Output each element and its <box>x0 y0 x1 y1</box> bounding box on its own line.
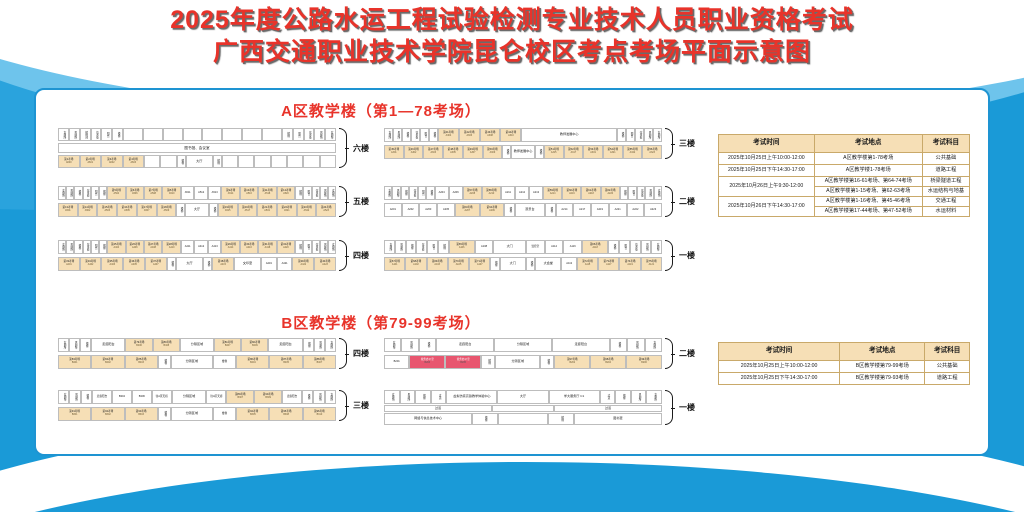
plan-cell-exam-room: 第75考场A121 <box>641 257 662 271</box>
plan-cell-label: 男厕所 <box>322 243 325 251</box>
plan-cell-code: A415 <box>220 264 226 267</box>
plan-cell-exam-room: 第62考场A220 <box>601 186 620 200</box>
plan-cell-label: 阳台 <box>105 132 108 137</box>
plan-cell-room: A211 <box>501 186 515 200</box>
floor-brace <box>339 390 346 421</box>
plan-row: 第45考场A301第46考场A302第47考场A303第48考场A305第49考… <box>384 145 662 159</box>
plan-cell-label: 饮水处 <box>85 189 88 197</box>
plan-cell-label: 文印室 <box>243 262 252 266</box>
exam-subject-cell: 水运结构与地基 <box>922 186 969 196</box>
plan-row: 第83考场B401第84考场B402第85考场B403楼梯分隔区域楼梯第86考场… <box>58 355 336 369</box>
plan-cell-label: 女厕所 <box>329 341 332 349</box>
plan-cell-exam-room: 第6考场A506 <box>126 186 144 200</box>
plan-cell-exam-room: 第22考场A521 <box>277 203 297 217</box>
plan-cell-vertical: 楼梯 <box>74 240 82 254</box>
plan-cell-vertical: 阳台 <box>418 186 426 200</box>
plan-cell-code: B303 <box>138 414 144 417</box>
exam-time-cell: 2025年10月25日上午10:00-12:00 <box>719 152 815 164</box>
plan-cell-exam-room: 第79考场B406 <box>125 338 152 352</box>
table-header-cell: 考试科目 <box>922 135 969 153</box>
plan-cell-label: 楼梯 <box>442 244 445 249</box>
plan-cell-vertical: 楼梯 <box>80 338 91 352</box>
plan-cell-room: A223 <box>644 203 662 217</box>
plan-cell-room: B201 <box>384 355 409 369</box>
plan-cell-label: 楼梯 <box>306 394 309 399</box>
plan-cell-vertical: 楼梯 <box>535 145 544 159</box>
floor-label: 四楼 <box>353 250 369 261</box>
plan-cell-exam-room: 第24考场A523 <box>316 203 336 217</box>
plan-cell-label: 楼梯 <box>508 207 511 212</box>
plan-cell-label: 女厕所 <box>653 393 656 401</box>
plan-cell-exam-room: 第57考场A208 <box>463 186 482 200</box>
plan-cell-room: A222 <box>627 203 645 217</box>
plan-cell-room: 走廊阳台 <box>282 390 302 404</box>
plan-cell-vertical: 阳台 <box>427 240 438 254</box>
table-row: 2025年10月25日下午14:30-17:00A区教学楼1-78考场道路工程 <box>719 164 970 176</box>
plan-cell-exam-room: 第1考场A600 <box>58 155 80 168</box>
plan-cell-exam-room: 第44考场A310 <box>500 128 521 142</box>
plan-cell-label: 大厅 <box>196 160 202 164</box>
plan-cell-room: 楼梯 <box>213 407 237 421</box>
exam-schedule-table-a: 考试时间考试地点考试科目2025年10月25日上午10:00-12:00A区教学… <box>718 134 970 217</box>
main-title: 2025年度公路水运工程试验检测专业技术人员职业资格考试 <box>0 6 1024 34</box>
plan-cell-label: A206 <box>453 192 459 195</box>
floor-label-group: 一楼 <box>665 390 695 425</box>
plan-cell-vertical: 女厕所 <box>325 338 336 352</box>
plan-cell-wide: 教师发展中心 <box>521 128 617 142</box>
plan-cell-exam-room: 第83考场B401 <box>58 355 91 369</box>
plan-cell-label: 女厕所 <box>655 243 658 251</box>
plan-cell-code: B407 <box>317 362 323 365</box>
plan-cell-vertical: 楼梯 <box>209 203 218 217</box>
plan-cell-code: A315 <box>551 152 557 155</box>
plan-cell-room: 往A区天桥 <box>152 390 172 404</box>
plan-cell-label: 女厕所 <box>62 131 65 139</box>
plan-cell-empty <box>222 155 238 168</box>
plan-cell-code: A218 <box>588 193 594 196</box>
plan-cell-vertical: 男厕所 <box>401 338 418 352</box>
floor-block: 女厕所男厕所楼梯走廊阳台分隔区域走廊阳台楼梯男厕所女厕所B201候务办公室B20… <box>384 338 662 369</box>
plan-cell-label: 男厕所 <box>395 189 398 197</box>
plan-cell-code: A422 <box>301 264 307 267</box>
plan-row: 过道过道 <box>384 405 662 412</box>
plan-cell-label: 楼梯 <box>206 261 209 266</box>
plan-cell-vertical: 女厕所 <box>646 390 662 404</box>
plan-cell-facility: 学大服务厅 C1 <box>549 390 600 404</box>
exam-place-cell: A区教学楼第16-61考场、第64-74考场 <box>814 176 922 186</box>
plan-cell-code: A406 <box>132 247 138 250</box>
plan-cell-code: A306 <box>466 135 472 138</box>
plan-cell-exam-room: 第32考场A420 <box>277 240 295 254</box>
plan-cell-room: A205 <box>437 203 455 217</box>
plan-cell-label: 阳台 <box>631 190 634 195</box>
plan-row: 女厕所男厕所楼梯饮水处阳台楼梯第65考场A106A108大门监控室A114A11… <box>384 240 662 254</box>
plan-cell-label: 学大服务厅 C1 <box>564 395 584 399</box>
plan-cell-exam-room: 第8考场A510 <box>162 186 180 200</box>
plan-cell-vertical: 楼梯 <box>99 240 107 254</box>
plan-cell-exam-room: 第53考场A319 <box>583 145 603 159</box>
plan-cell-vertical: 楼梯 <box>176 203 185 217</box>
plan-cell-vertical: 阳台 <box>303 186 311 200</box>
plan-cell-label: A108 <box>481 246 487 249</box>
plan-cell-vertical: 女厕所 <box>384 186 392 200</box>
plan-cell-label: 女厕所 <box>387 189 390 197</box>
plan-cell-label: A413 <box>212 246 218 249</box>
plan-cell-vertical: 男厕所 <box>320 240 328 254</box>
plan-cell-vertical: 楼梯 <box>112 128 123 141</box>
plan-cell-empty <box>160 155 176 168</box>
plan-cell-label: 饮水处 <box>85 243 88 251</box>
plan-cell-label: 大门 <box>507 245 513 249</box>
plan-row: 女厕所男厕所楼梯饮水处阳台楼梯第25考场A404第26考场A406第27考场A4… <box>58 240 336 254</box>
plan-cell-label: 楼梯间 <box>84 131 87 139</box>
plan-cell-vertical: 楼梯 <box>472 413 497 425</box>
plan-cell-room: A116 <box>563 240 582 254</box>
plan-cell-exam-room: 第43考场A308 <box>480 128 501 142</box>
plan-cell-exam-room: 第67考场A101 <box>384 257 405 271</box>
plan-cell-code: B408 <box>164 345 170 348</box>
a-zone-title: A区教学楼（第1—78考场） <box>216 100 546 121</box>
plan-cell-label: 饮水处 <box>307 131 310 139</box>
plan-cell-vertical: 过道 <box>600 390 616 404</box>
plan-cell-label: 男厕所 <box>73 131 76 139</box>
plan-cell-exam-room: 第72考场A115 <box>577 257 598 271</box>
plan-cell-exam-room: 第99考场B206 <box>626 355 662 369</box>
plan-cell-label: 饮水处 <box>639 189 642 197</box>
plan-cell-vertical: 女厕所 <box>325 390 336 404</box>
plan-cell-code: A401 <box>66 264 72 267</box>
plan-cell-vertical: 男厕所 <box>644 128 653 142</box>
plan-row: 女厕所男厕所楼梯走廊阳台B304B306往A区天桥分隔区域往A区天桥第89考场B… <box>58 390 336 404</box>
plan-cell-code: A322 <box>630 152 636 155</box>
plan-cell-label: 楼梯 <box>84 342 87 347</box>
plan-cell-code: A516 <box>246 193 252 196</box>
plan-row: 女厕所男厕所楼梯过道虚拟仿真高铁教学体验中心大厅学大服务厅 C1过道楼梯男厕所女… <box>384 390 662 404</box>
plan-cell-code: A403 <box>110 264 116 267</box>
plan-cell-facility: 文印室 <box>234 257 261 271</box>
plan-cell-code: A407 <box>153 264 159 267</box>
plan-cell-exam-room: 第60考场A216 <box>562 186 581 200</box>
plan-cell-exam-room: 第45考场A301 <box>384 145 404 159</box>
floor-label-group: 四楼 <box>339 240 369 271</box>
plan-cell-exam-room: 第86考场B404 <box>236 355 269 369</box>
plan-cell-label: A511 <box>185 192 191 195</box>
plan-cell-label: A219 <box>597 209 603 212</box>
plan-cell-exam-room: 第15考场A503 <box>97 203 117 217</box>
plan-cell-vertical: 楼梯 <box>402 128 411 142</box>
plan-cell-vertical: 女厕所 <box>384 128 393 142</box>
plan-cell-code: A510 <box>169 193 175 196</box>
plan-cell-code: B401 <box>72 362 78 365</box>
floor-brace <box>339 186 346 217</box>
plan-cell-vertical: 男厕所 <box>392 186 400 200</box>
plan-cell-code: A404 <box>114 247 120 250</box>
plan-cell-label: 分隔区域 <box>186 360 198 364</box>
plan-cell-exam-room: 第13考场A501 <box>58 203 78 217</box>
plan-cell-exam-room: 第48考场A305 <box>443 145 463 159</box>
plan-cell-exam-room: 第17考场A507 <box>137 203 157 217</box>
plan-cell-facility: 大门 <box>493 240 526 254</box>
plan-cell-vertical: 楼梯 <box>74 186 82 200</box>
plan-row: B201候务办公室B203候务办公室B205楼梯分隔区域楼梯第97考场B202第… <box>384 355 662 369</box>
plan-cell-facility: 过道 <box>384 405 492 412</box>
plan-cell-vertical: 女厕所 <box>58 390 69 404</box>
plan-cell-code: A416 <box>246 247 252 250</box>
plan-cell-label: 楼梯 <box>298 190 301 195</box>
plan-cell-vertical: 楼梯 <box>502 145 511 159</box>
plan-cell-label: A412 <box>198 246 204 249</box>
plan-cell-label: 楼梯 <box>409 244 412 249</box>
plan-cell-label: A202 <box>408 209 414 212</box>
plan-cell-exam-room: 第59考场A214 <box>543 186 562 200</box>
plan-cell-code: B301 <box>72 414 78 417</box>
plan-cell-label: A221 <box>615 209 621 212</box>
floor-label: 二楼 <box>679 348 695 359</box>
plan-cell-code: A502 <box>85 210 91 213</box>
plan-cell-label: 分隔区域 <box>512 360 524 364</box>
plan-cell-vertical: 楼梯 <box>401 186 409 200</box>
plan-cell-exam-room: 第92考场B302 <box>91 407 124 421</box>
plan-cell-vertical: 楼梯 <box>548 413 573 425</box>
plan-cell-exam-room: 第91考场B301 <box>58 407 91 421</box>
plan-cell-code: A305 <box>450 152 456 155</box>
plan-cell-vertical: 楼梯 <box>302 390 313 404</box>
plan-cell-label: 男厕所 <box>406 393 409 401</box>
plan-cell-exam-room: 第63考场A207 <box>455 203 480 217</box>
plan-cell-vertical: 楼梯 <box>303 338 314 352</box>
plan-cell-facility: 虚拟仿真高铁教学体验中心 <box>446 390 497 404</box>
plan-cell-code: A503 <box>104 210 110 213</box>
plan-cell-exam-room: 第88考场B407 <box>303 355 336 369</box>
plan-cell-exam-room: 第33考场A401 <box>58 257 80 271</box>
plan-cell-label: 阳台 <box>297 132 300 137</box>
plan-cell-label: 走廊阳台 <box>459 343 471 347</box>
plan-cell-label: 男厕所 <box>648 189 651 197</box>
table-header-row: 考试时间考试地点考试科目 <box>719 135 970 153</box>
plan-cell-vertical: 女厕所 <box>384 240 395 254</box>
plan-cell-exam-room: 第34考场A402 <box>80 257 102 271</box>
plan-row: 第1考场A600第2考场A601第3考场A602第4考场A603楼梯大厅楼梯 <box>58 155 336 168</box>
plan-cell-label: 男厕所 <box>409 341 412 349</box>
plan-cell-room: A212 <box>515 186 529 200</box>
plan-cell-code: A323 <box>649 152 655 155</box>
plan-cell-label: 饮水处 <box>95 131 98 139</box>
plan-cell-label: 楼梯 <box>483 416 486 421</box>
floor-label: 一楼 <box>679 250 695 261</box>
plan-cell-label: 楼梯 <box>538 149 541 154</box>
plan-cell-label: 大厅 <box>520 395 526 399</box>
plan-row: 第33考场A401第34考场A402第35考场A403第36考场A405第37考… <box>58 257 336 271</box>
plan-cell-exam-room: 第70考场A105 <box>448 257 469 271</box>
plan-cell-room: A419 <box>261 257 277 271</box>
plan-cell-label: 楼梯 <box>405 132 408 137</box>
plan-cell-exam-room: 第2考场A601 <box>80 155 102 168</box>
floor-label-group: 二楼 <box>665 186 695 217</box>
plan-cell-code: B309 <box>265 397 271 400</box>
plan-cell-room: A511 <box>181 186 195 200</box>
plan-cell-code: B403 <box>138 362 144 365</box>
plan-cell-exam-room: 第51考场A315 <box>544 145 564 159</box>
plan-cell-vertical: 饮水处 <box>416 240 427 254</box>
plan-cell-vertical: 女厕所 <box>58 338 69 352</box>
plan-cell-code: A508 <box>150 193 156 196</box>
plan-cell-exam-room: 第47考场A303 <box>423 145 443 159</box>
plan-cell-code: A118 <box>592 247 597 250</box>
plan-cell-label: 楼梯 <box>429 190 432 195</box>
plan-cell-label: 男厕所 <box>634 341 637 349</box>
plan-cell-label: 走廊阳台 <box>102 343 114 347</box>
floor-label: 二楼 <box>679 196 695 207</box>
plan-cell-vertical: 男厕所 <box>66 240 74 254</box>
exam-schedule-table-b: 考试时间考试地点考试科目2025年10月25日上午10:00-12:00B区教学… <box>718 342 970 385</box>
plan-cell-exam-room: 第89考场B307 <box>226 390 254 404</box>
plan-cell-label: 楼梯 <box>77 190 80 195</box>
plan-cell-code: A317 <box>571 152 577 155</box>
floor-brace <box>339 338 346 369</box>
plan-cell-facility: 走廊阳台 <box>552 338 610 352</box>
exam-subject-cell: 道路工程 <box>922 164 969 176</box>
plan-cell-vertical: 饮水处 <box>635 128 644 142</box>
plan-cell-exam-room: 第73考场A117 <box>598 257 619 271</box>
plan-cell-room: A513 <box>208 186 222 200</box>
plan-cell-label: 楼梯 <box>560 416 563 421</box>
plan-row: A201A202A203A205第63考场A207第64考场A209楼梯观景台楼… <box>384 203 662 217</box>
plan-cell-code: A220 <box>607 193 613 196</box>
exam-time-cell: 2025年10月26日下午14:30-17:00 <box>719 196 815 216</box>
sub-title: 广西交通职业技术学院昆仑校区考点考场平面示意图 <box>0 38 1024 66</box>
plan-cell-label: 女厕所 <box>329 393 332 401</box>
plan-cell-label: 男厕所 <box>74 393 77 401</box>
plan-cell-label: 女厕所 <box>391 341 394 349</box>
plan-cell-vertical: 饮水处 <box>83 240 91 254</box>
plan-cell-room: 往A区天桥 <box>206 390 226 404</box>
plan-cell-code: A115 <box>585 264 590 267</box>
plan-cell-vertical: 楼梯 <box>617 128 626 142</box>
plan-cell-code: A119 <box>627 264 632 267</box>
plan-cell-label: 楼梯 <box>622 394 625 399</box>
plan-cell-code: A214 <box>550 193 556 196</box>
plan-cell-exam-room: 第39考场A422 <box>292 257 314 271</box>
plan-cell-facility: 教师发展中心 <box>511 145 535 159</box>
plan-cell-label: 楼梯 <box>298 244 301 249</box>
plan-cell-label: A512 <box>198 192 204 195</box>
plan-cell-code: B305 <box>250 414 256 417</box>
plan-cell-code: A302 <box>411 152 417 155</box>
plan-cell-code: A505 <box>124 210 130 213</box>
plan-cell-exam-room: 第94考场B305 <box>236 407 269 421</box>
plan-cell-code: A210 <box>489 193 495 196</box>
plan-cell-code: A504 <box>114 193 120 196</box>
plan-cell-exam-room: 第25考场A404 <box>107 240 125 254</box>
plan-cell-exam-room: 第82考场B409 <box>241 338 268 352</box>
plan-cell-exam-room: 第50考场A309 <box>483 145 503 159</box>
plan-cell-label: A217 <box>579 209 585 212</box>
table-row: 2025年10月26日下午14:30-17:00A区教学楼第1-16考场、第45… <box>719 196 970 206</box>
plan-cell-code: B404 <box>250 362 256 365</box>
exam-place-cell: A区教学楼第1-78考场 <box>814 152 922 164</box>
plan-cell-empty <box>163 128 183 141</box>
plan-cell-code: A319 <box>590 152 596 155</box>
plan-cell-vertical: 男厕所 <box>313 390 324 404</box>
plan-cell-vertical: 男厕所 <box>645 186 653 200</box>
plan-cell-code: A523 <box>323 210 329 213</box>
plan-cell-exam-room: 第9考场A514 <box>221 186 239 200</box>
plan-cell-room: 走廊阳台 <box>92 390 112 404</box>
b-zone-title: B区教学楼（第79-99考场） <box>216 312 546 333</box>
plan-cell-vertical: 男厕所 <box>69 338 80 352</box>
plan-cell-code: A518 <box>265 193 271 196</box>
plan-cell-code: A414 <box>228 247 234 250</box>
plan-cell-label: 楼梯 <box>222 413 227 416</box>
plan-cell-label: 饮水处 <box>314 243 317 251</box>
plan-cell-vertical: 楼梯 <box>415 390 431 404</box>
plan-cell-vertical: 楼梯 <box>490 257 499 271</box>
plan-row: 第13考场A501第14考场A502第15考场A503第16考场A505第17考… <box>58 203 336 217</box>
plan-cell-label: 女厕所 <box>656 189 659 197</box>
plan-cell-exam-room: 第69考场A103 <box>427 257 448 271</box>
exam-time-cell: 2025年10月26日上午9:30-12:00 <box>719 176 815 196</box>
plan-cell-vertical: 楼梯 <box>615 390 631 404</box>
plan-cell-facility: 大门 <box>500 257 526 271</box>
plan-cell-vertical: 楼梯 <box>282 128 293 141</box>
plan-row: 图书馆、会议室 <box>58 143 336 153</box>
plan-cell-room: A114 <box>545 240 564 254</box>
plan-cell-vertical: 过道 <box>431 390 447 404</box>
plan-cell-label: 网络与信息技术中心 <box>414 417 442 421</box>
plan-cell-label: A113 <box>566 263 572 266</box>
plan-cell-room: A512 <box>194 186 208 200</box>
plan-cell-code: A514 <box>228 193 234 196</box>
floor-label: 五楼 <box>353 196 369 207</box>
plan-cell-vertical: 阳台 <box>101 128 112 141</box>
plan-cell-wide: 图书馆、会议室 <box>58 143 336 153</box>
plan-cell-vertical: 阳台 <box>628 186 636 200</box>
plan-cell-code: A402 <box>88 264 94 267</box>
plan-cell-code: A307 <box>470 152 476 155</box>
plan-cell-vertical: 男厕所 <box>314 338 325 352</box>
plan-row: 女厕所男厕所楼梯走廊阳台分隔区域走廊阳台楼梯男厕所女厕所 <box>384 338 662 352</box>
plan-cell-vertical: 楼梯 <box>295 240 303 254</box>
plan-cell-code: A420 <box>283 247 289 250</box>
plan-cell-code: A310 <box>508 135 514 138</box>
plan-cell-label: 楼梯 <box>432 132 435 137</box>
plan-cell-code: A410 <box>169 247 175 250</box>
plan-cell-room: A214 <box>556 203 574 217</box>
plan-cell-office: 候务办公室B203 <box>409 355 445 369</box>
plan-cell-code: A321 <box>610 152 616 155</box>
plan-cell-room: A113 <box>561 257 576 271</box>
plan-cell-exam-room: 第37考场A407 <box>145 257 167 271</box>
plan-cell-code: B302 <box>105 414 111 417</box>
table-header-cell: 考试时间 <box>719 343 840 361</box>
plan-cell-vertical: 楼梯 <box>620 186 628 200</box>
plan-cell-label: 楼梯 <box>426 342 429 347</box>
table-row: 2025年10月25日上午10:00-12:00B区教学楼第79-99考场公共基… <box>719 360 970 372</box>
plan-cell-vertical: 楼梯 <box>429 128 438 142</box>
plan-cell-vertical: 女厕所 <box>384 390 400 404</box>
plan-cell-vertical: 男厕所 <box>69 390 80 404</box>
plan-cell-code: A304 <box>446 135 452 138</box>
plan-cell-facility: 大会堂 <box>535 257 561 271</box>
plan-cell-vertical: 饮水处 <box>312 240 320 254</box>
table-header-cell: 考试地点 <box>814 135 922 153</box>
plan-cell-code: A301 <box>391 152 397 155</box>
content-panel: A区教学楼（第1—78考场） B区教学楼（第79-99考场） 女厕所男厕所楼梯间… <box>34 88 990 456</box>
plan-cell-label: 监控室 <box>531 246 539 249</box>
plan-cell-empty <box>271 155 287 168</box>
floor-block: 女厕所男厕所楼梯间饮水处阳台楼梯楼梯阳台饮水处男厕所女厕所图书馆、会议室第1考场… <box>58 128 336 168</box>
plan-cell-room: A411 <box>181 240 195 254</box>
